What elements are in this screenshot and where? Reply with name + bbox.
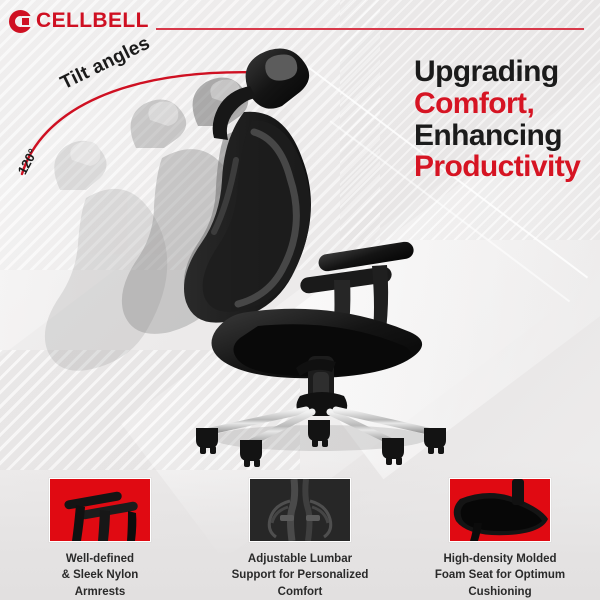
product-image-chair [0, 40, 460, 480]
lumbar-photo-icon [250, 479, 350, 541]
chair-base [196, 392, 446, 467]
feature-caption-line: High-density Molded [435, 551, 565, 567]
chair-illustration-icon [0, 40, 460, 480]
lumbar-support-thumbnail [249, 478, 351, 542]
feature-caption: High-density Molded Foam Seat for Optimu… [435, 551, 565, 600]
feature-caption: Adjustable Lumbar Support for Personaliz… [232, 551, 369, 600]
feature-caption-line: Comfort [232, 584, 369, 600]
feature-caption-line: Support for Personalized [232, 567, 369, 583]
seat-photo-icon [450, 479, 550, 541]
feature-caption-line: Adjustable Lumbar [232, 551, 369, 567]
promo-banner: CELLBELL Tilt angles 120° 90° Upgrading … [0, 0, 600, 600]
feature-row: Well-defined & Sleek Nylon Armrests [0, 478, 600, 600]
feature-caption: Well-defined & Sleek Nylon Armrests [62, 551, 139, 600]
feature-caption-line: Well-defined [62, 551, 139, 567]
feature-item-seat: High-density Molded Foam Seat for Optimu… [400, 478, 600, 600]
armrest-thumbnail [49, 478, 151, 542]
feature-item-armrests: Well-defined & Sleek Nylon Armrests [0, 478, 200, 600]
feature-item-lumbar: Adjustable Lumbar Support for Personaliz… [200, 478, 400, 600]
foam-seat-thumbnail [449, 478, 551, 542]
feature-caption-line: Armrests [62, 584, 139, 600]
feature-caption-line: Foam Seat for Optimum [435, 567, 565, 583]
armrest-photo-icon [50, 479, 150, 541]
feature-caption-line: Cushioning [435, 584, 565, 600]
feature-caption-line: & Sleek Nylon [62, 567, 139, 583]
